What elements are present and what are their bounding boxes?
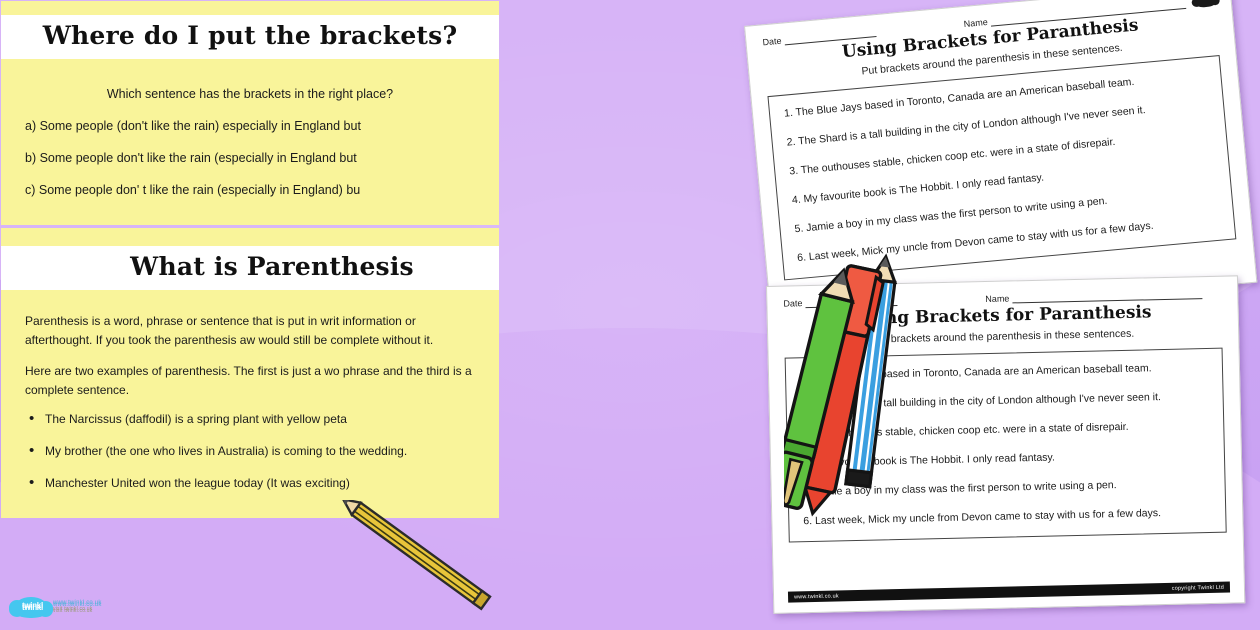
footer-url: www.twinkl.co.uk: [794, 593, 839, 600]
twinkl-url: www.twinkl.co.uk visit twinkl.co.uk: [53, 602, 102, 615]
date-label: Date: [762, 36, 782, 48]
slide-title-band: Where do I put the brackets?: [1, 15, 499, 59]
twinkl-url-line2: visit twinkl.co.uk: [53, 609, 102, 615]
slide-where-do-i-put-the-brackets[interactable]: Where do I put the brackets? Which sente…: [1, 1, 499, 225]
yellow-pencil-illustration: [322, 500, 512, 612]
slide-body: Which sentence has the brackets in the r…: [1, 59, 499, 225]
footer-copyright: copyright Twinkl Ltd: [1172, 584, 1224, 591]
worksheet-question-box: 1. The Blue Jays based in Toronto, Canad…: [767, 55, 1236, 280]
promo-image: Date Name Using Brackets for Paranthesis…: [0, 0, 1260, 630]
slide-what-is-parenthesis[interactable]: What is Parenthesis Parenthesis is a wor…: [1, 228, 499, 518]
twinkl-wordmark: twinkl: [22, 603, 43, 612]
worksheet-footer: www.twinkl.co.uk copyright Twinkl Ltd: [788, 582, 1230, 603]
slide-title: What is Parenthesis: [45, 252, 499, 281]
name-label: Name: [985, 293, 1009, 304]
examples-list: The Narcissus (daffodil) is a spring pla…: [25, 412, 475, 490]
answer-option[interactable]: c) Some people don' t like the rain (esp…: [25, 183, 475, 197]
answer-option[interactable]: a) Some people (don't like the rain) esp…: [25, 119, 475, 133]
examples-intro-paragraph: Here are two examples of parenthesis. Th…: [25, 362, 475, 399]
slide-top-strip: [1, 1, 499, 15]
definition-paragraph: Parenthesis is a word, phrase or sentenc…: [25, 312, 475, 349]
slide-lead: Which sentence has the brackets in the r…: [25, 87, 475, 101]
answer-option[interactable]: b) Some people don't like the rain (espe…: [25, 151, 475, 165]
slide-body: Parenthesis is a word, phrase or sentenc…: [1, 290, 499, 518]
name-label: Name: [963, 17, 988, 29]
list-item: My brother (the one who lives in Austral…: [25, 444, 475, 458]
slide-title-band: What is Parenthesis: [1, 246, 499, 290]
list-item: Manchester United won the league today (…: [25, 476, 475, 490]
slide-title: Where do I put the brackets?: [1, 21, 499, 50]
list-item: The Narcissus (daffodil) is a spring pla…: [25, 412, 475, 426]
pens-and-pencils-illustration: [784, 250, 916, 522]
slide-top-strip: [1, 228, 499, 246]
